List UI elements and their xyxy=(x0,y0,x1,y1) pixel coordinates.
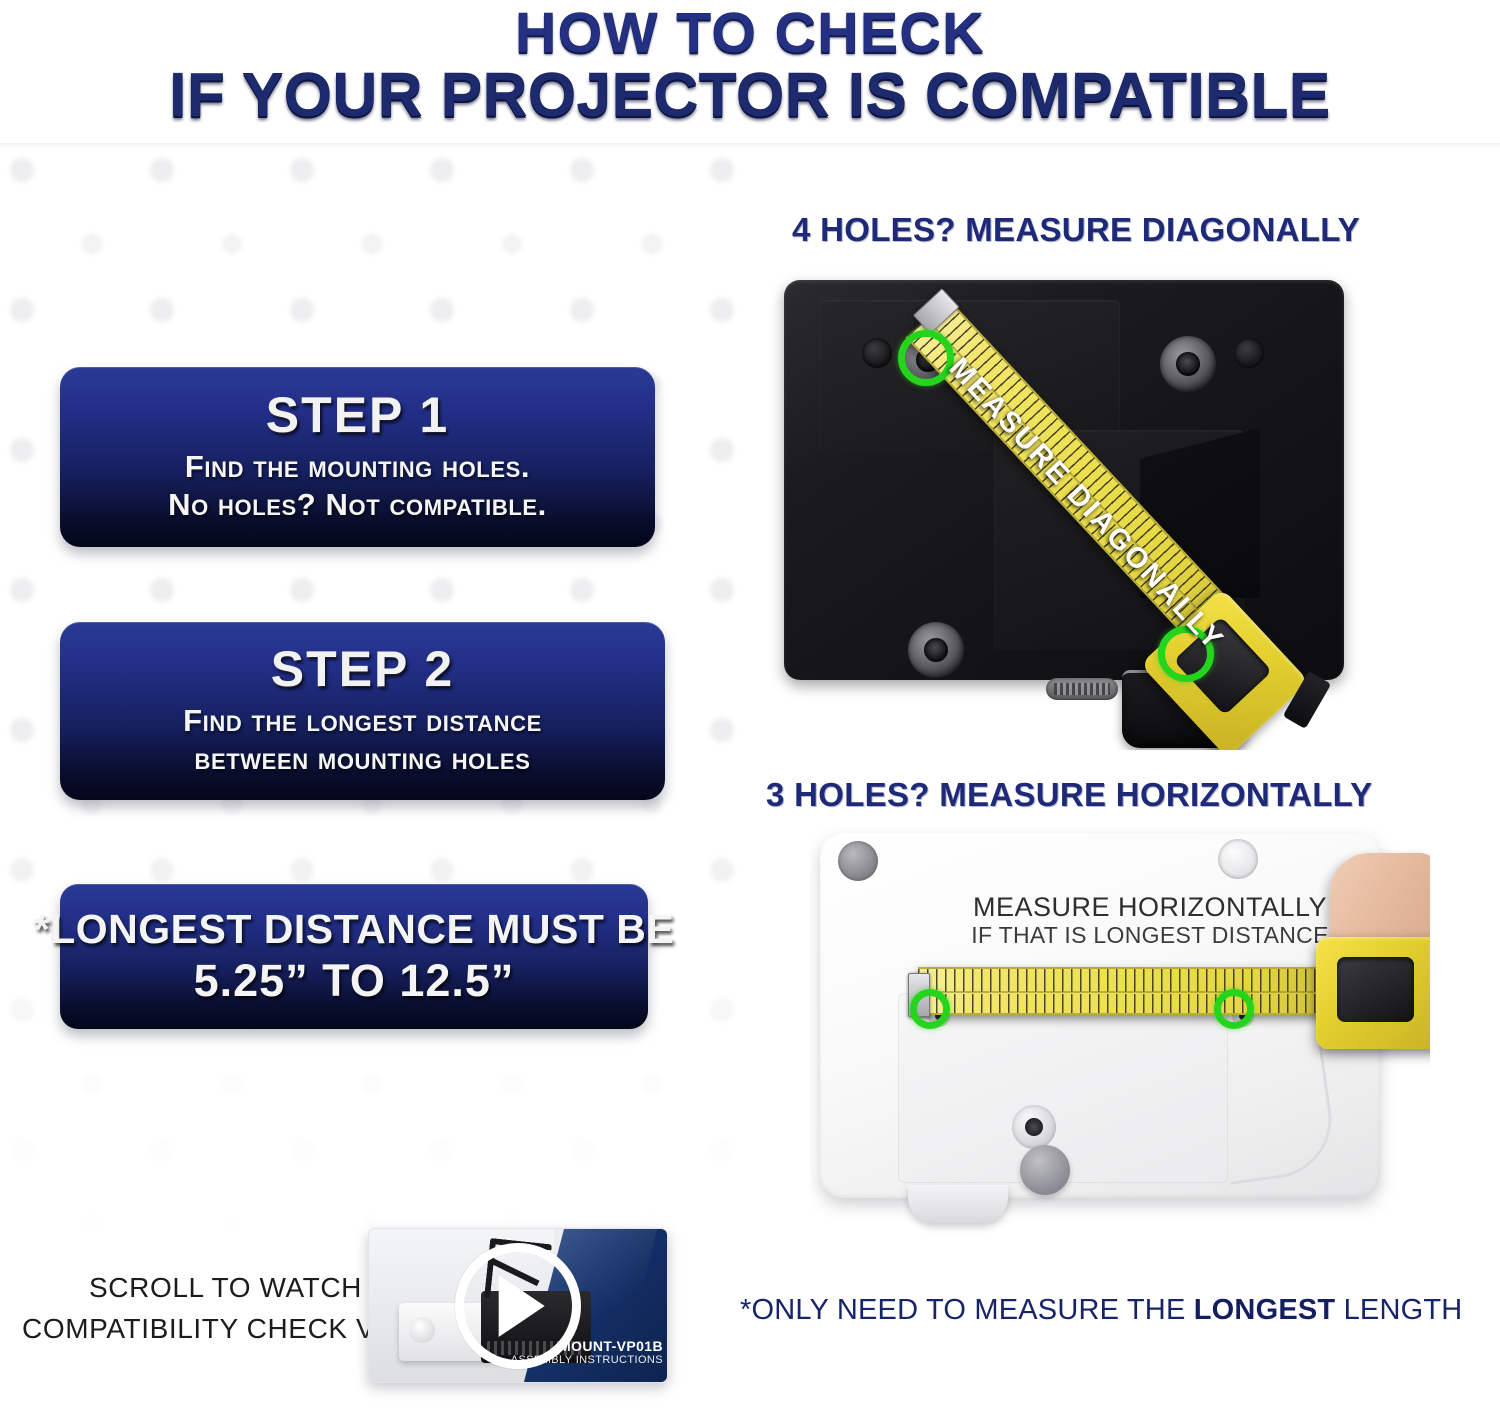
scroll-to-watch-text: SCROLL TO WATCH COMPATIBILITY CHECK VIDE… xyxy=(22,1268,362,1349)
play-triangle-icon xyxy=(499,1275,545,1337)
step-1-card: STEP 1 Find the mounting holes. No holes… xyxy=(60,367,655,547)
mounting-hole-top-right xyxy=(1160,336,1216,392)
white-caption-line1: MEASURE HORIZONTALLY xyxy=(973,892,1327,922)
heading-measure-diagonally: 4 HOLES? MEASURE DIAGONALLY xyxy=(792,211,1360,249)
infographic-page: HOW TO CHECK IF YOUR PROJECTOR IS COMPAT… xyxy=(0,0,1500,1412)
white-adjust-knob xyxy=(1020,1145,1070,1195)
white-projector-caption: MEASURE HORIZONTALLY IF THAT IS LONGEST … xyxy=(940,893,1360,947)
tape-measure-blade-horizontal xyxy=(918,967,1330,1015)
white-projector-lens xyxy=(908,1185,1008,1223)
scroll-line-2: COMPATIBILITY CHECK VIDEO xyxy=(22,1309,362,1350)
footnote-longest-length: *ONLY NEED TO MEASURE THE LONGEST LENGTH xyxy=(740,1294,1462,1327)
footnote-suffix: LENGTH xyxy=(1335,1294,1462,1326)
footnote-prefix: *ONLY NEED TO MEASURE THE xyxy=(740,1294,1194,1326)
white-foot-top-left xyxy=(838,841,878,881)
heading-measure-horizontally: 3 HOLES? MEASURE HORIZONTALLY xyxy=(766,776,1372,814)
tape-h-ticks-lower xyxy=(918,994,1330,1013)
chassis-grill xyxy=(1046,678,1118,700)
projector-white-chassis: MEASURE HORIZONTALLY IF THAT IS LONGEST … xyxy=(820,833,1380,1198)
step-2-title: STEP 2 xyxy=(271,643,454,696)
page-title-line1: HOW TO CHECK xyxy=(515,5,985,62)
step-2-card: STEP 2 Find the longest distance between… xyxy=(60,622,665,800)
video-thumbnail[interactable]: MOUNT-VP01B ASSEMBLY INSTRUCTIONS xyxy=(368,1228,668,1383)
white-center-screw xyxy=(1012,1105,1056,1149)
step-2-line1: Find the longest distance xyxy=(183,702,542,741)
chassis-screw-small-topleft xyxy=(862,338,892,368)
photo-black-projector-bottom: MEASURE DIAGONALLY xyxy=(770,270,1370,750)
step-1-line2: No holes? Not compatible. xyxy=(168,486,547,525)
white-foot-top-right xyxy=(1218,839,1258,879)
tape-h-center-line xyxy=(918,991,1330,993)
highlight-ring-hole-right xyxy=(1214,989,1254,1029)
step-1-line1: Find the mounting holes. xyxy=(185,448,530,487)
white-caption-line2: IF THAT IS LONGEST DISTANCE xyxy=(940,923,1360,947)
play-icon[interactable] xyxy=(455,1243,581,1369)
distance-requirement-card: *LONGEST DISTANCE MUST BE 5.25” TO 12.5” xyxy=(60,884,648,1029)
footnote-emphasis: LONGEST xyxy=(1194,1294,1336,1326)
page-title-line2: IF YOUR PROJECTOR IS COMPATIBLE xyxy=(169,65,1330,127)
requirement-line1: *LONGEST DISTANCE MUST BE xyxy=(34,906,674,953)
requirement-line2: 5.25” TO 12.5” xyxy=(194,955,515,1007)
tape-h-ticks-upper xyxy=(918,969,1330,992)
tape-h-case-window xyxy=(1337,957,1414,1022)
scroll-line-1: SCROLL TO WATCH xyxy=(22,1268,362,1309)
chassis-screw-small-topright xyxy=(1234,338,1264,368)
highlight-ring-hole-left xyxy=(910,989,950,1029)
white-chassis-contour xyxy=(1211,1031,1339,1185)
page-header: HOW TO CHECK IF YOUR PROJECTOR IS COMPAT… xyxy=(0,0,1500,143)
tape-measure-case-horizontal xyxy=(1316,937,1430,1049)
photo-white-projector-bottom: MEASURE HORIZONTALLY IF THAT IS LONGEST … xyxy=(810,825,1430,1245)
step-2-line2: between mounting holes xyxy=(195,740,531,779)
mounting-hole-bottom-left xyxy=(908,622,964,678)
step-1-title: STEP 1 xyxy=(266,389,449,442)
